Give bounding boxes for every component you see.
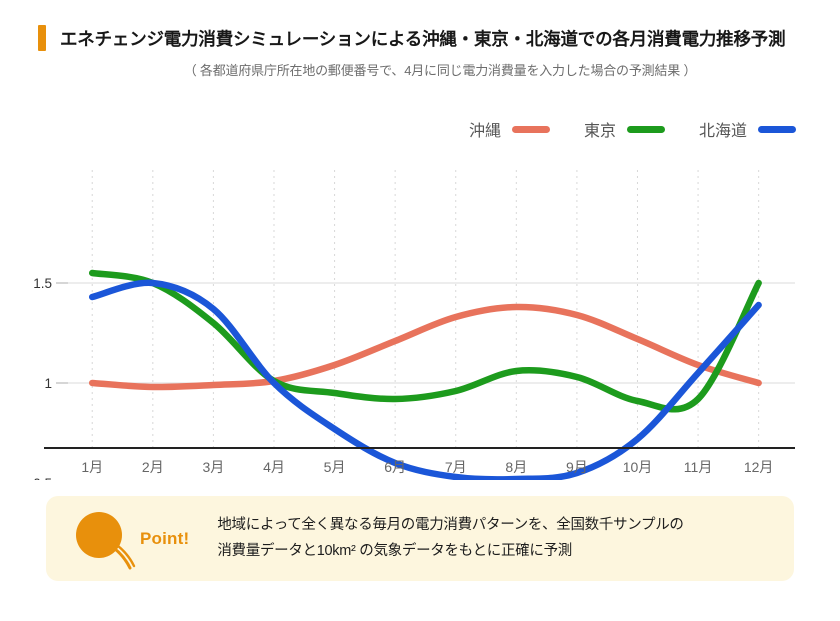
title-accent-bar (38, 25, 46, 51)
series-line-沖縄 (92, 307, 758, 387)
x-tick-label: 1月 (81, 459, 103, 475)
y-axis-tick-labels: 0.511.5 (33, 276, 68, 480)
x-tick-label: 4月 (263, 459, 285, 475)
y-tick-label: 1 (44, 376, 52, 391)
legend-label-okinawa: 沖縄 (469, 117, 501, 141)
legend-label-hokkaido: 北海道 (699, 117, 747, 141)
series-line-北海道 (92, 283, 758, 480)
x-tick-label: 7月 (445, 459, 467, 475)
point-text-line-1: 地域によって全く異なる毎月の電力消費パターンを、全国数千サンプルの (217, 513, 683, 538)
horizontal-gridlines (68, 283, 795, 480)
chart-page: エネチェンジ電力消費シミュレーションによる沖縄・東京・北海道での各月消費電力推移… (0, 0, 840, 621)
legend-swatch-tokyo (627, 126, 665, 133)
x-tick-label: 10月 (623, 459, 653, 475)
legend-swatch-okinawa (512, 126, 550, 133)
x-tick-label: 11月 (684, 459, 713, 475)
point-callout-box: Point! 地域によって全く異なる毎月の電力消費パターンを、全国数千サンプルの… (46, 496, 794, 581)
x-tick-label: 2月 (142, 459, 164, 475)
page-subtitle: （ 各都道府県庁所在地の郵便番号で、4月に同じ電力消費量を入力した場合の予測結果… (0, 60, 840, 79)
legend-item-okinawa[interactable]: 沖縄 (469, 117, 550, 141)
point-icon-wrap (62, 506, 154, 572)
point-text-line-2: 消費量データと10km² の気象データをもとに正確に予測 (217, 539, 683, 564)
x-tick-label: 5月 (324, 459, 346, 475)
line-chart: 0.511.5 1月2月3月4月5月6月7月8月9月10月11月12月 (0, 150, 840, 480)
y-tick-label: 0.5 (33, 476, 52, 480)
point-swoosh-icon (106, 542, 140, 570)
chart-area: 0.511.5 1月2月3月4月5月6月7月8月9月10月11月12月 (0, 150, 840, 480)
legend-item-tokyo[interactable]: 東京 (584, 117, 665, 141)
legend-swatch-hokkaido (758, 126, 796, 133)
legend-label-tokyo: 東京 (584, 117, 616, 141)
title-row: エネチェンジ電力消費シミュレーションによる沖縄・東京・北海道での各月消費電力推移… (0, 0, 840, 51)
page-title: エネチェンジ電力消費シミュレーションによる沖縄・東京・北海道での各月消費電力推移… (60, 26, 785, 51)
x-tick-label: 12月 (744, 459, 774, 475)
x-tick-label: 9月 (566, 459, 588, 475)
point-text: 地域によって全く異なる毎月の電力消費パターンを、全国数千サンプルの 消費量データ… (217, 513, 683, 564)
y-tick-label: 1.5 (33, 276, 52, 291)
x-tick-label: 8月 (505, 459, 527, 475)
x-tick-label: 3月 (203, 459, 225, 475)
chart-header: エネチェンジ電力消費シミュレーションによる沖縄・東京・北海道での各月消費電力推移… (0, 0, 840, 79)
legend-item-hokkaido[interactable]: 北海道 (699, 117, 796, 141)
chart-legend: 沖縄 東京 北海道 (469, 117, 796, 141)
x-tick-label: 6月 (384, 459, 406, 475)
